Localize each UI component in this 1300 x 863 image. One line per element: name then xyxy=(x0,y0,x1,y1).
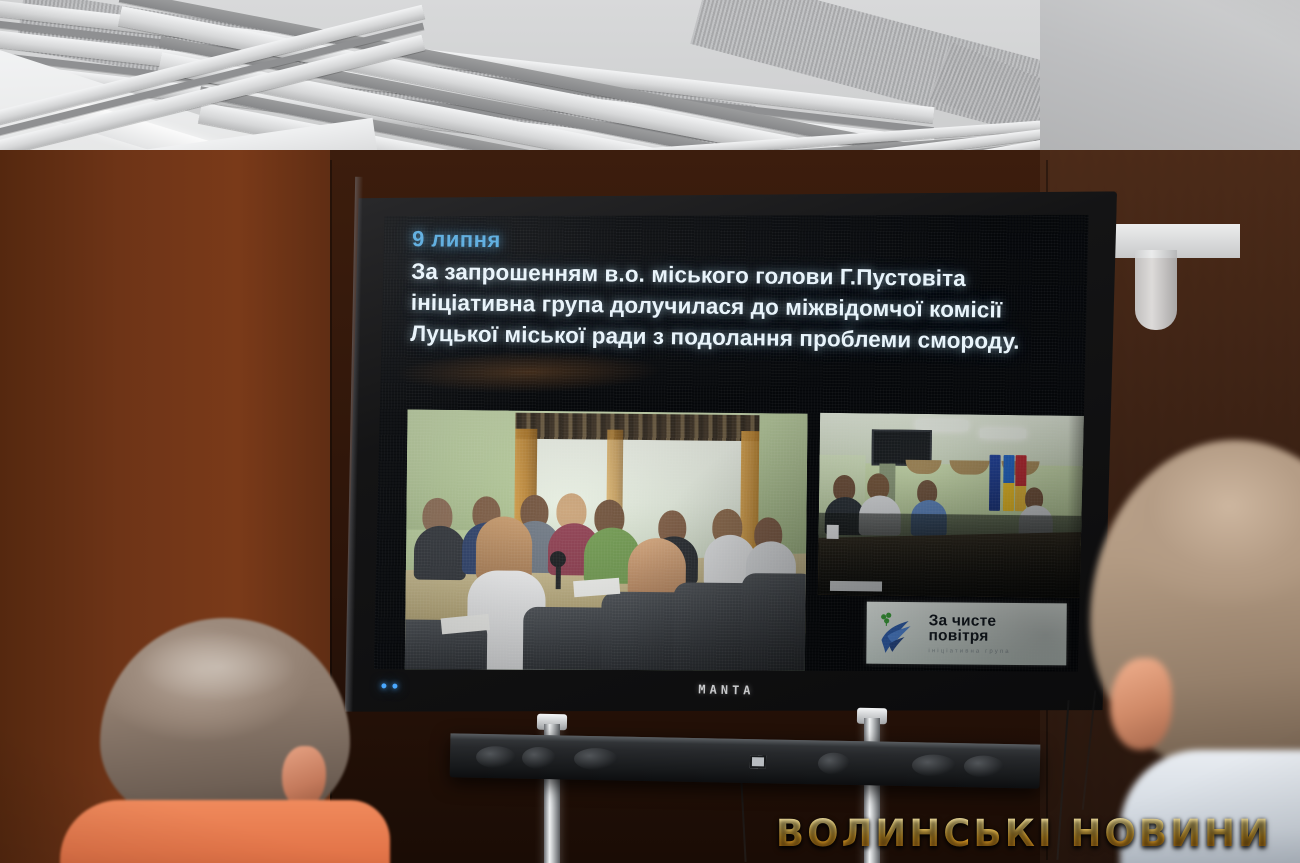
bird-clover-logo-icon xyxy=(874,610,920,656)
attendee-left xyxy=(60,618,400,863)
jbl-logo-icon xyxy=(750,755,766,768)
logo-subtitle: ініціативна група xyxy=(928,648,1056,655)
tv-screen: 9 липня За запрошенням в.о. міського гол… xyxy=(374,201,1089,682)
slide-date: 9 липня xyxy=(412,226,1064,260)
meeting-room-photo-right xyxy=(818,413,1089,599)
presentation-slide: 9 липня За запрошенням в.о. міського гол… xyxy=(374,201,1089,682)
television: 9 липня За запрошенням в.о. міського гол… xyxy=(345,177,1117,727)
campaign-logo-plate: За чисте повітря ініціативна група xyxy=(866,602,1067,666)
news-watermark: ВОЛИНСЬКІ НОВИНИ xyxy=(776,812,1272,855)
ventilation-duct-icon xyxy=(1135,250,1177,330)
logo-title: За чисте повітря xyxy=(928,613,1056,645)
slide-body-text: За запрошенням в.о. міського голови Г.Пу… xyxy=(410,256,1063,358)
attendee-right xyxy=(1090,430,1300,863)
meeting-room-photo-left xyxy=(405,410,808,683)
photo-scene: 9 липня За запрошенням в.о. міського гол… xyxy=(0,0,1300,863)
